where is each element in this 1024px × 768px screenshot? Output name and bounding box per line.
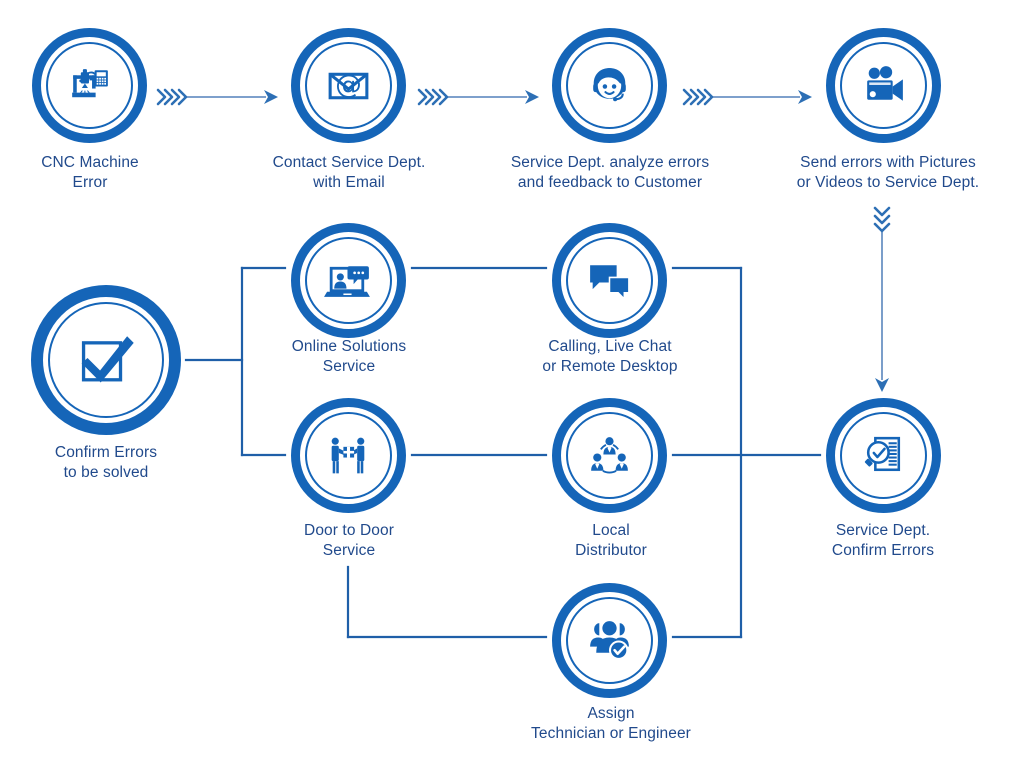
support-agent-headset-icon — [561, 37, 658, 134]
team-circle-icon — [561, 407, 658, 504]
node-ring-cnc-machine-error[interactable] — [32, 28, 147, 143]
node-caption-contact-service-dept: Contact Service Dept. with Email — [244, 153, 454, 192]
node-ring-confirm-errors-to-be-solved[interactable] — [31, 285, 181, 435]
node-ring-online-solutions-service[interactable] — [291, 223, 406, 338]
node-caption-confirm-errors-to-be-solved: Confirm Errors to be solved — [16, 443, 196, 482]
node-caption-door-to-door-service: Door to Door Service — [258, 521, 440, 560]
node-ring-calling-live-chat[interactable] — [552, 223, 667, 338]
connector-lines — [186, 268, 820, 637]
arrow-send-to-confirm — [875, 208, 889, 392]
node-caption-local-distributor: Local Distributor — [520, 521, 702, 560]
arrow-email-to-analyze — [419, 90, 539, 104]
node-ring-assign-technician[interactable] — [552, 583, 667, 698]
arrow-analyze-to-send — [684, 90, 812, 104]
node-ring-door-to-door-service[interactable] — [291, 398, 406, 513]
video-camera-icon — [835, 37, 932, 134]
package-handover-icon — [300, 407, 397, 504]
svg-text:@: @ — [335, 70, 362, 101]
node-caption-send-errors-media: Send errors with Pictures or Videos to S… — [762, 153, 1014, 192]
cnc-machine-icon — [41, 37, 138, 134]
node-ring-service-dept-confirm-errors[interactable] — [826, 398, 941, 513]
checkbox-check-icon — [43, 297, 169, 423]
node-caption-calling-live-chat: Calling, Live Chat or Remote Desktop — [517, 337, 703, 376]
node-ring-service-dept-analyze[interactable] — [552, 28, 667, 143]
laptop-chat-icon — [300, 232, 397, 329]
node-ring-contact-service-dept[interactable]: @ — [291, 28, 406, 143]
group-check-icon — [561, 592, 658, 689]
node-caption-assign-technician: Assign Technician or Engineer — [498, 704, 724, 743]
email-envelope-icon: @ — [300, 37, 397, 134]
node-caption-cnc-machine-error: CNC Machine Error — [0, 153, 180, 192]
flowchart-canvas: CNC Machine Error @Contact Service Dept.… — [0, 0, 1024, 768]
node-caption-service-dept-confirm-errors: Service Dept. Confirm Errors — [790, 521, 976, 560]
arrow-cnc-to-email — [158, 90, 278, 104]
magnifier-document-check-icon — [835, 407, 932, 504]
chat-bubbles-icon — [561, 232, 658, 329]
node-caption-online-solutions-service: Online Solutions Service — [258, 337, 440, 376]
node-caption-service-dept-analyze: Service Dept. analyze errors and feedbac… — [480, 153, 740, 192]
node-ring-send-errors-media[interactable] — [826, 28, 941, 143]
node-ring-local-distributor[interactable] — [552, 398, 667, 513]
